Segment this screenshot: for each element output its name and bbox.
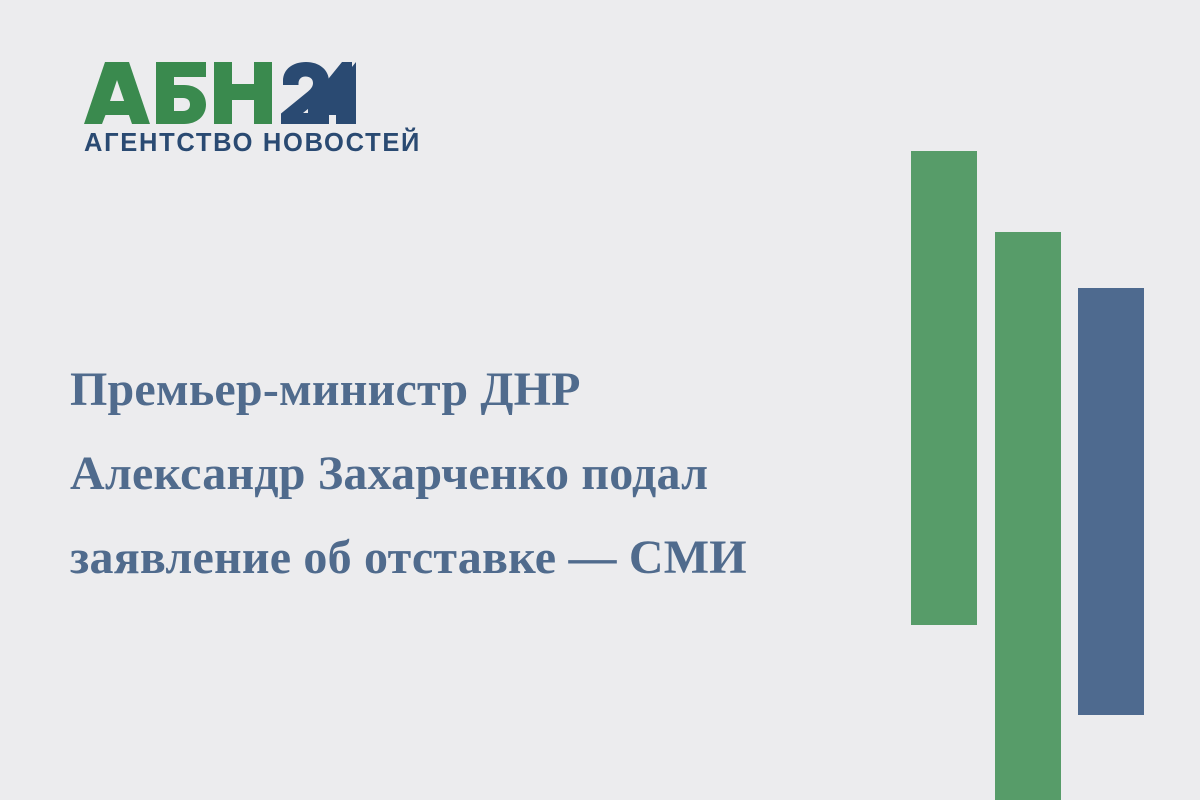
decorative-bar-2 (995, 232, 1061, 800)
headline-line-3: заявление об отставке — СМИ (70, 531, 747, 584)
headline: Премьер-министр ДНР Александр Захарченко… (70, 348, 860, 600)
logo-wordmark-icon (84, 62, 356, 124)
headline-line-2: Александр Захарченко подал (70, 447, 708, 500)
abn24-logo[interactable]: АГЕНТСТВО НОВОСТЕЙ (84, 62, 374, 157)
decorative-bar-3 (1078, 288, 1144, 715)
news-card: АГЕНТСТВО НОВОСТЕЙ Премьер-министр ДНР А… (0, 0, 1200, 800)
decorative-bar-1 (911, 151, 977, 625)
headline-line-1: Премьер-министр ДНР (70, 363, 581, 416)
logo-tagline: АГЕНТСТВО НОВОСТЕЙ (84, 131, 374, 157)
